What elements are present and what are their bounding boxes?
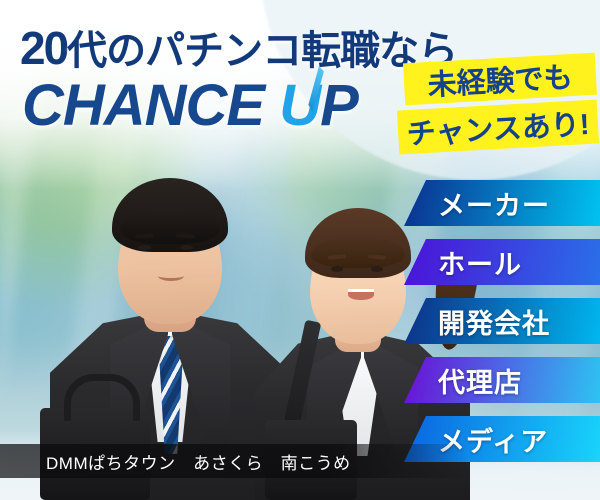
logo-word-chance: CHANCE <box>22 73 279 138</box>
category-banner-development-company[interactable]: 開発会社 <box>404 298 600 344</box>
businessman-eye-right <box>180 245 193 250</box>
businesswoman-eye-left <box>331 266 343 272</box>
businessman-hair <box>112 178 228 252</box>
credit-caption-text: DMMぱちタウン あさくら 南こうめ <box>46 449 351 474</box>
businessman-mouth <box>158 271 184 281</box>
businesswoman-eye-right <box>371 266 383 272</box>
category-label-agency: 代理店 <box>438 361 522 400</box>
headline-text: 20代のパチンコ転職なら <box>20 18 457 76</box>
headline-number: 20 <box>20 22 67 74</box>
logo-letter-u-accent: U <box>279 72 320 139</box>
category-label-hall: ホール <box>438 243 522 282</box>
businesswoman-mouth <box>348 289 374 300</box>
logo-letter-p: P <box>320 73 358 138</box>
chance-up-logo: CHANCE UP <box>22 72 358 139</box>
chance-up-ad-banner[interactable]: 20代のパチンコ転職なら CHANCE UP 未経験でも チャンスあり! メーカ… <box>0 0 600 500</box>
category-banner-list: メーカー ホール 開発会社 代理店 メディア <box>404 180 600 475</box>
category-banner-maker[interactable]: メーカー <box>404 180 600 226</box>
badge-no-experience-label: 未経験でも <box>426 54 573 104</box>
businesswoman-hair <box>305 208 411 278</box>
category-banner-hall[interactable]: ホール <box>404 239 600 285</box>
category-banner-agency[interactable]: 代理店 <box>404 357 600 403</box>
badge-chance-available-label: チャンスあり! <box>406 101 591 153</box>
credit-caption-bar: DMMぱちタウン あさくら 南こうめ <box>0 444 600 478</box>
headline-rest: 代のパチンコ転職なら <box>67 29 457 73</box>
businessman-eye-left <box>138 245 151 250</box>
category-label-development-company: 開発会社 <box>438 302 550 341</box>
category-label-maker: メーカー <box>438 184 550 223</box>
